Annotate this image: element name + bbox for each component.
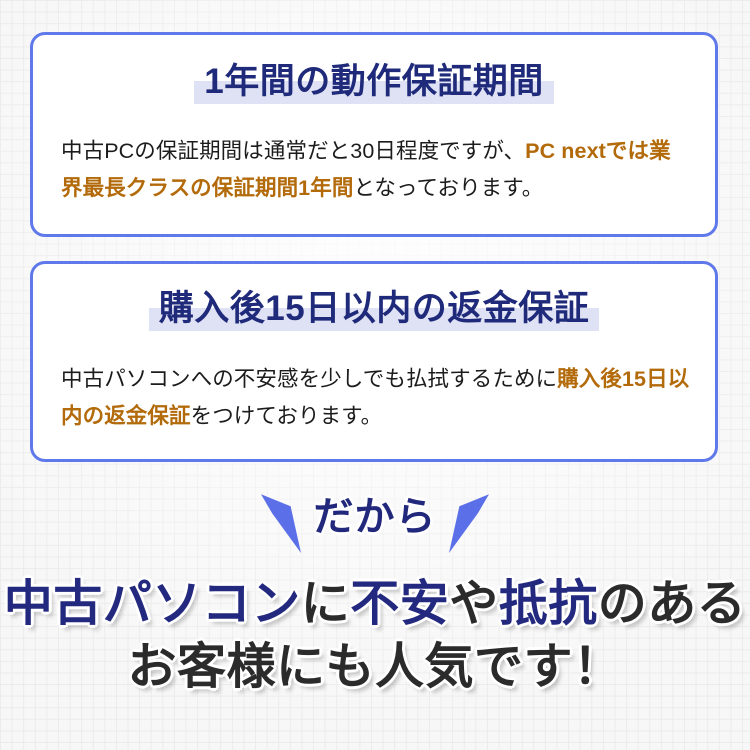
- connector-band: だから: [0, 487, 750, 562]
- body-segment-plain-tail: となっております。: [353, 176, 543, 200]
- closing-seg-7: お客様にも人気です！: [127, 640, 622, 694]
- closing-headline-line2: お客様にも人気です！: [0, 636, 750, 699]
- card-heading-refund: 購入後15日以内の返金保証: [33, 291, 715, 326]
- closing-seg-4: や: [449, 577, 499, 631]
- card-heading-highlight: 購入後15日以内の返金保証: [149, 291, 599, 326]
- guarantee-card-warranty: 1年間の動作保証期間 中古PCの保証期間は通常だと30日程度ですが、PC nex…: [30, 32, 718, 237]
- closing-seg-5: 抵抗: [499, 577, 598, 631]
- closing-seg-1: 中古パソコン: [4, 577, 301, 631]
- card-body-refund: 中古パソコンへの不安感を少しでも払拭するために購入後15日以内の返金保証をつけて…: [61, 361, 691, 435]
- closing-seg-3: 不安: [350, 577, 449, 631]
- card-body-warranty: 中古PCの保証期間は通常だと30日程度ですが、PC nextでは業界最長クラスの…: [61, 133, 691, 207]
- body-segment-accent-brand: PC next: [525, 139, 606, 163]
- card-heading-warranty: 1年間の動作保証期間: [33, 64, 715, 99]
- closing-headline: 中古パソコンに不安や抵抗のある お客様にも人気です！: [0, 573, 750, 699]
- body-segment-plain: 中古パソコンへの不安感を少しでも払拭するために: [61, 367, 557, 391]
- closing-seg-2: に: [301, 577, 351, 631]
- body-segment-plain: 中古PCの保証期間は通常だと30日程度ですが、: [61, 139, 525, 163]
- body-segment-plain-tail: をつけております。: [191, 404, 383, 428]
- card-heading-highlight: 1年間の動作保証期間: [194, 64, 553, 99]
- guarantee-card-refund: 購入後15日以内の返金保証 中古パソコンへの不安感を少しでも払拭するために購入後…: [30, 261, 718, 462]
- closing-seg-6: のある: [598, 577, 747, 631]
- closing-headline-line1: 中古パソコンに不安や抵抗のある: [0, 573, 750, 636]
- connector-inner: だから: [255, 487, 495, 562]
